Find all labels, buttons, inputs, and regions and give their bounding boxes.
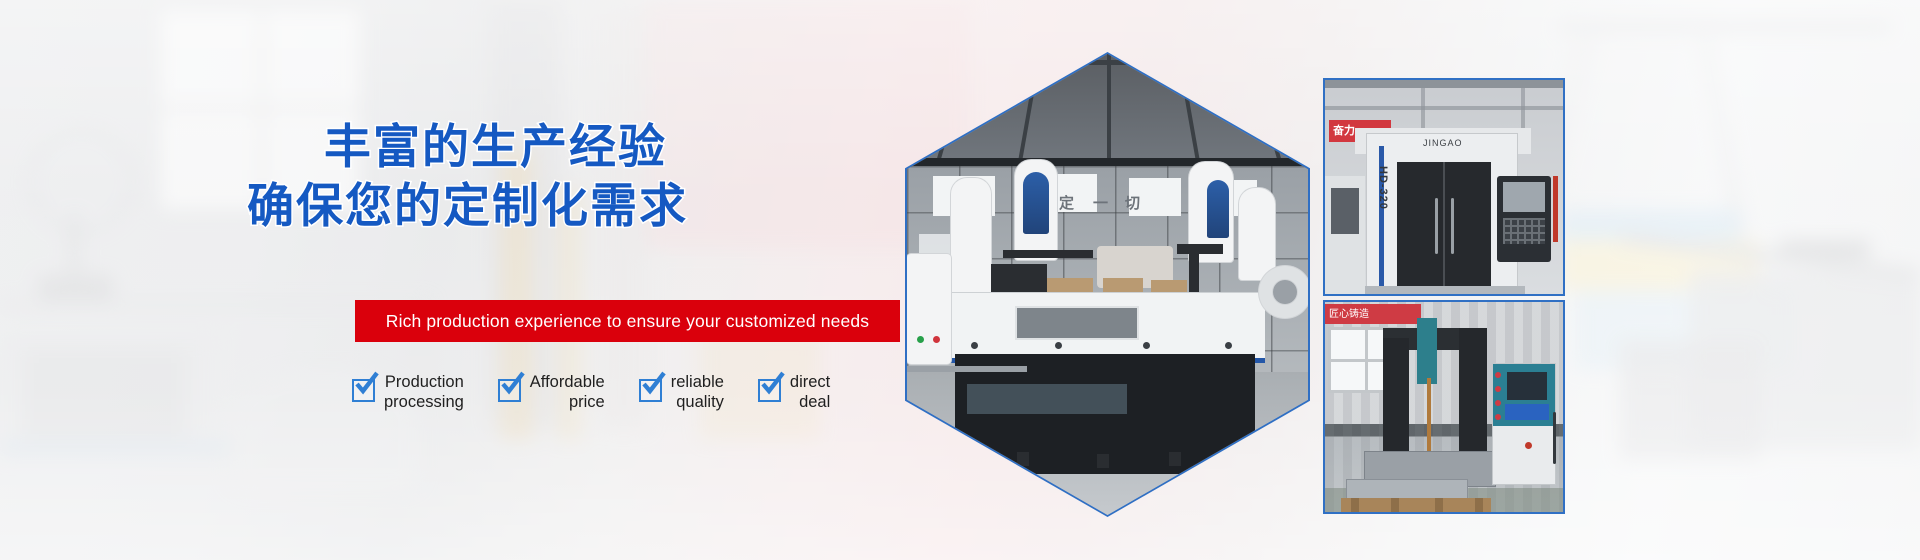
subheadline-text: Rich production experience to ensure you… [386,311,869,332]
subheadline-bar: Rich production experience to ensure you… [355,300,900,342]
checkbox-checked-icon [352,379,375,402]
machine-model-label: HD-320 [1377,166,1389,210]
feature-list: Production processing Affordable price r… [352,372,830,412]
headline-line-1: 丰富的生产经验 [30,118,905,177]
feature-label: Affordable price [530,372,605,412]
hexagon-cnc-machine-photo: 定 一 切 [907,54,1308,515]
headline-block: 丰富的生产经验 确保您的定制化需求 [0,118,905,236]
feature-item-production-processing: Production processing [352,372,464,412]
checkbox-checked-icon [639,379,662,402]
feature-item-direct-deal: direct deal [758,372,830,412]
wall-banner: 匠心铸造 [1325,304,1421,324]
feature-label: direct deal [790,372,830,412]
feature-label: reliable quality [671,372,724,412]
hero-hexagon-frame: 定 一 切 [905,52,1310,517]
feature-item-affordable-price: Affordable price [498,372,605,412]
page-title: 丰富的生产经验 确保您的定制化需求 [0,118,905,236]
cnc-machining-center-photo: 奋力 HD-320 JINGAO [1323,78,1565,296]
feature-item-reliable-quality: reliable quality [639,372,724,412]
headline-line-2: 确保您的定制化需求 [30,177,905,236]
checkbox-checked-icon [758,379,781,402]
promo-banner: 丰富的生产经验 确保您的定制化需求 Rich production experi… [0,0,1920,560]
feature-label: Production processing [384,372,464,412]
gantry-edm-machine-photo: 匠心铸造 [1323,300,1565,514]
checkbox-checked-icon [498,379,521,402]
